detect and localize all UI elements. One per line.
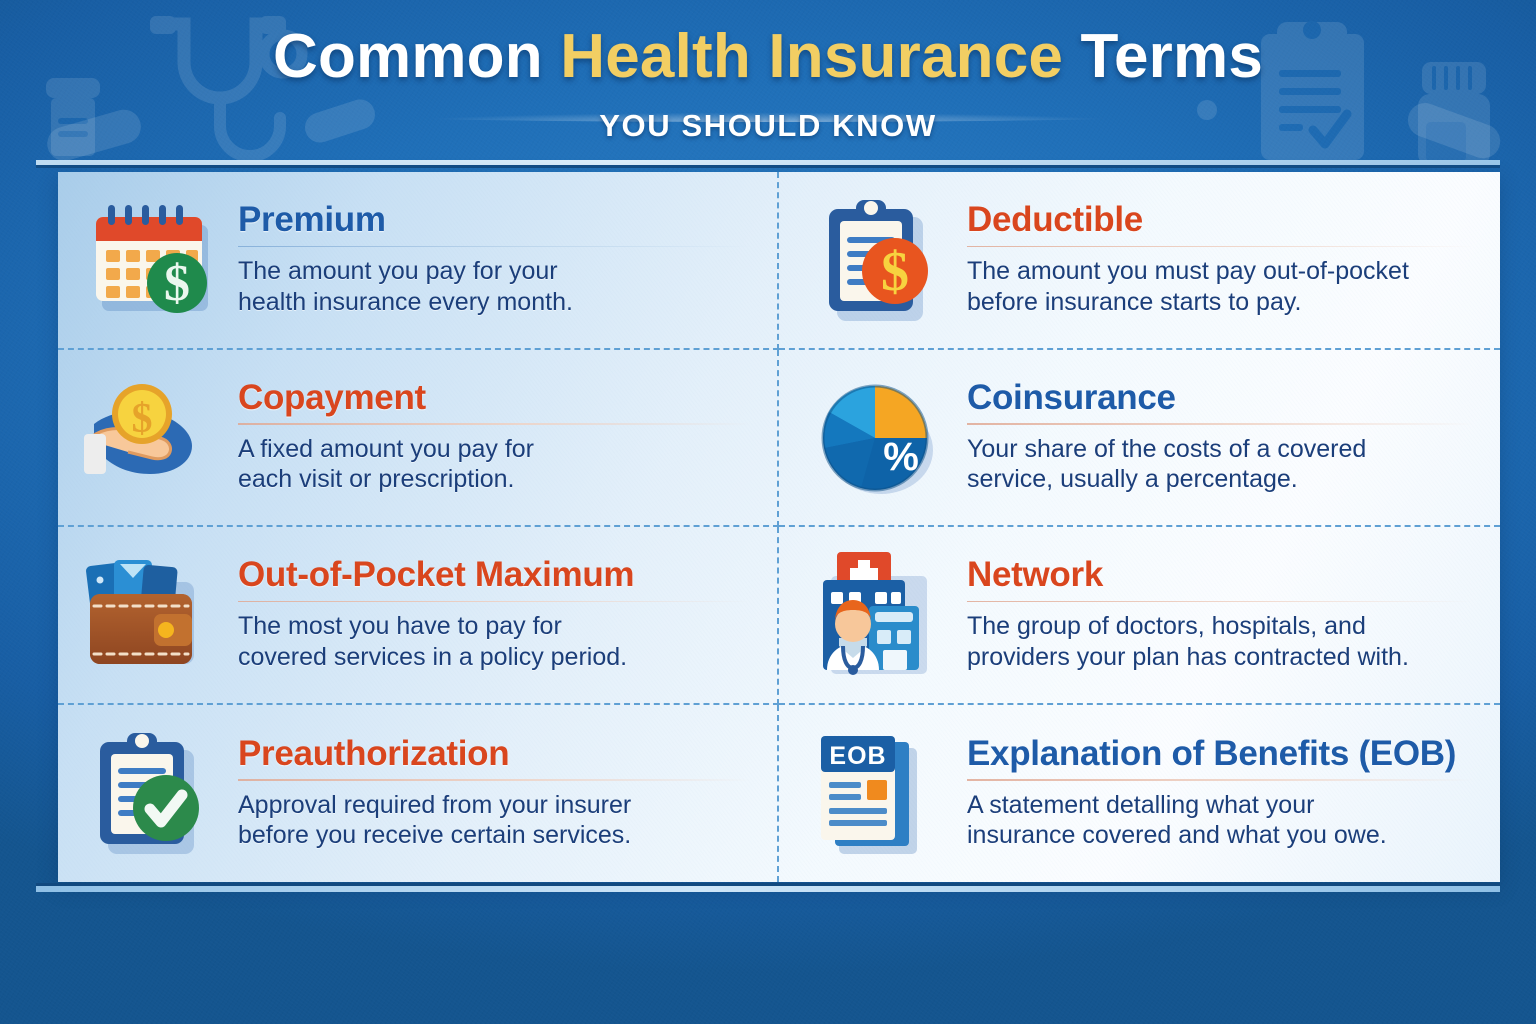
term-rule (238, 423, 751, 425)
term-title: Coinsurance (967, 380, 1474, 417)
term-text-network: Network The group of doctors, hospitals,… (959, 557, 1474, 672)
title-part-health-insurance: Health Insurance (560, 22, 1063, 91)
terms-panel: $ Premium The amount you pay for your he… (58, 172, 1500, 882)
term-description-line2: before insurance starts to pay. (967, 287, 1474, 318)
term-description-line2: providers your plan has contracted with. (967, 642, 1474, 673)
term-description: Your share of the costs of a covered ser… (967, 434, 1474, 495)
term-title: Deductible (967, 202, 1474, 239)
term-description-line1: The amount you must pay out-of-pocket (967, 256, 1474, 287)
header: Common Health Insurance Terms YOU SHOULD… (0, 0, 1536, 160)
term-card-deductible[interactable]: $ Deductible The amount you must pay out… (779, 172, 1500, 350)
term-description-line1: Approval required from your insurer (238, 790, 751, 821)
term-text-deductible: Deductible The amount you must pay out-o… (959, 202, 1474, 317)
term-description-line1: The most you have to pay for (238, 611, 751, 642)
term-card-premium[interactable]: $ Premium The amount you pay for your he… (58, 172, 779, 350)
term-description-line2: insurance covered and what you owe. (967, 820, 1474, 851)
svg-text:%: % (883, 435, 919, 479)
hospital-doctor-icon (809, 550, 959, 680)
term-description: A statement detalling what your insuranc… (967, 790, 1474, 851)
term-text-premium: Premium The amount you pay for your heal… (230, 202, 751, 317)
term-description: The amount you pay for your health insur… (238, 256, 751, 317)
term-description-line2: each visit or prescription. (238, 464, 751, 495)
term-title: Preauthorization (238, 736, 751, 773)
term-rule (967, 779, 1474, 781)
title-part-common: Common (273, 22, 543, 91)
page-title: Common Health Insurance Terms (0, 24, 1536, 89)
term-title: Premium (238, 202, 751, 239)
term-description: The amount you must pay out-of-pocket be… (967, 256, 1474, 317)
term-card-network[interactable]: Network The group of doctors, hospitals,… (779, 527, 1500, 705)
pie-chart-percent-icon: % (809, 372, 959, 502)
term-card-out-of-pocket-maximum[interactable]: Out-of-Pocket Maximum The most you have … (58, 527, 779, 705)
term-description-line1: Your share of the costs of a covered (967, 434, 1474, 465)
term-card-explanation-of-benefits[interactable]: EOB Explanation of Benefits (EOB) A stat… (779, 705, 1500, 883)
term-description: A fixed amount you pay for each visit or… (238, 434, 751, 495)
term-description-line1: A fixed amount you pay for (238, 434, 751, 465)
term-text-copayment: Copayment A fixed amount you pay for eac… (230, 380, 751, 495)
svg-text:EOB: EOB (829, 742, 886, 770)
clipboard-dollar-icon: $ (809, 195, 959, 325)
term-title: Explanation of Benefits (EOB) (967, 736, 1474, 773)
term-description: The most you have to pay for covered ser… (238, 611, 751, 672)
term-text-coinsurance: Coinsurance Your share of the costs of a… (959, 380, 1474, 495)
svg-text:$: $ (164, 255, 190, 312)
panel-top-border (36, 160, 1500, 165)
term-card-copayment[interactable]: $ Copayment A fixed amount you pay for e… (58, 350, 779, 528)
calendar-dollar-icon: $ (80, 195, 230, 325)
term-rule (238, 246, 751, 248)
term-description-line1: The group of doctors, hospitals, and (967, 611, 1474, 642)
term-title: Out-of-Pocket Maximum (238, 557, 751, 594)
term-rule (967, 601, 1474, 603)
term-text-preauthorization: Preauthorization Approval required from … (230, 736, 751, 851)
term-rule (238, 779, 751, 781)
term-card-preauthorization[interactable]: Preauthorization Approval required from … (58, 705, 779, 883)
term-description: Approval required from your insurer befo… (238, 790, 751, 851)
term-card-coinsurance[interactable]: % Coinsurance Your share of the costs of… (779, 350, 1500, 528)
clipboard-check-icon (80, 728, 230, 858)
term-description: The group of doctors, hospitals, and pro… (967, 611, 1474, 672)
svg-text:$: $ (881, 241, 909, 303)
term-description-line2: health insurance every month. (238, 287, 751, 318)
term-description-line2: service, usually a percentage. (967, 464, 1474, 495)
eob-document-icon: EOB (809, 728, 959, 858)
term-description-line1: A statement detalling what your (967, 790, 1474, 821)
terms-grid: $ Premium The amount you pay for your he… (58, 172, 1500, 882)
term-rule (238, 601, 751, 603)
term-text-explanation-of-benefits: Explanation of Benefits (EOB) A statemen… (959, 736, 1474, 851)
term-description-line1: The amount you pay for your (238, 256, 751, 287)
term-rule (967, 246, 1474, 248)
term-title: Network (967, 557, 1474, 594)
page-subtitle: YOU SHOULD KNOW (0, 108, 1536, 144)
term-text-out-of-pocket-maximum: Out-of-Pocket Maximum The most you have … (230, 557, 751, 672)
term-rule (967, 423, 1474, 425)
wallet-cards-icon (80, 550, 230, 680)
term-description-line2: before you receive certain services. (238, 820, 751, 851)
title-part-terms: Terms (1081, 22, 1264, 91)
term-description-line2: covered services in a policy period. (238, 642, 751, 673)
hand-coin-icon: $ (80, 372, 230, 502)
term-title: Copayment (238, 380, 751, 417)
panel-bottom-border (36, 886, 1500, 892)
svg-text:$: $ (132, 396, 153, 442)
